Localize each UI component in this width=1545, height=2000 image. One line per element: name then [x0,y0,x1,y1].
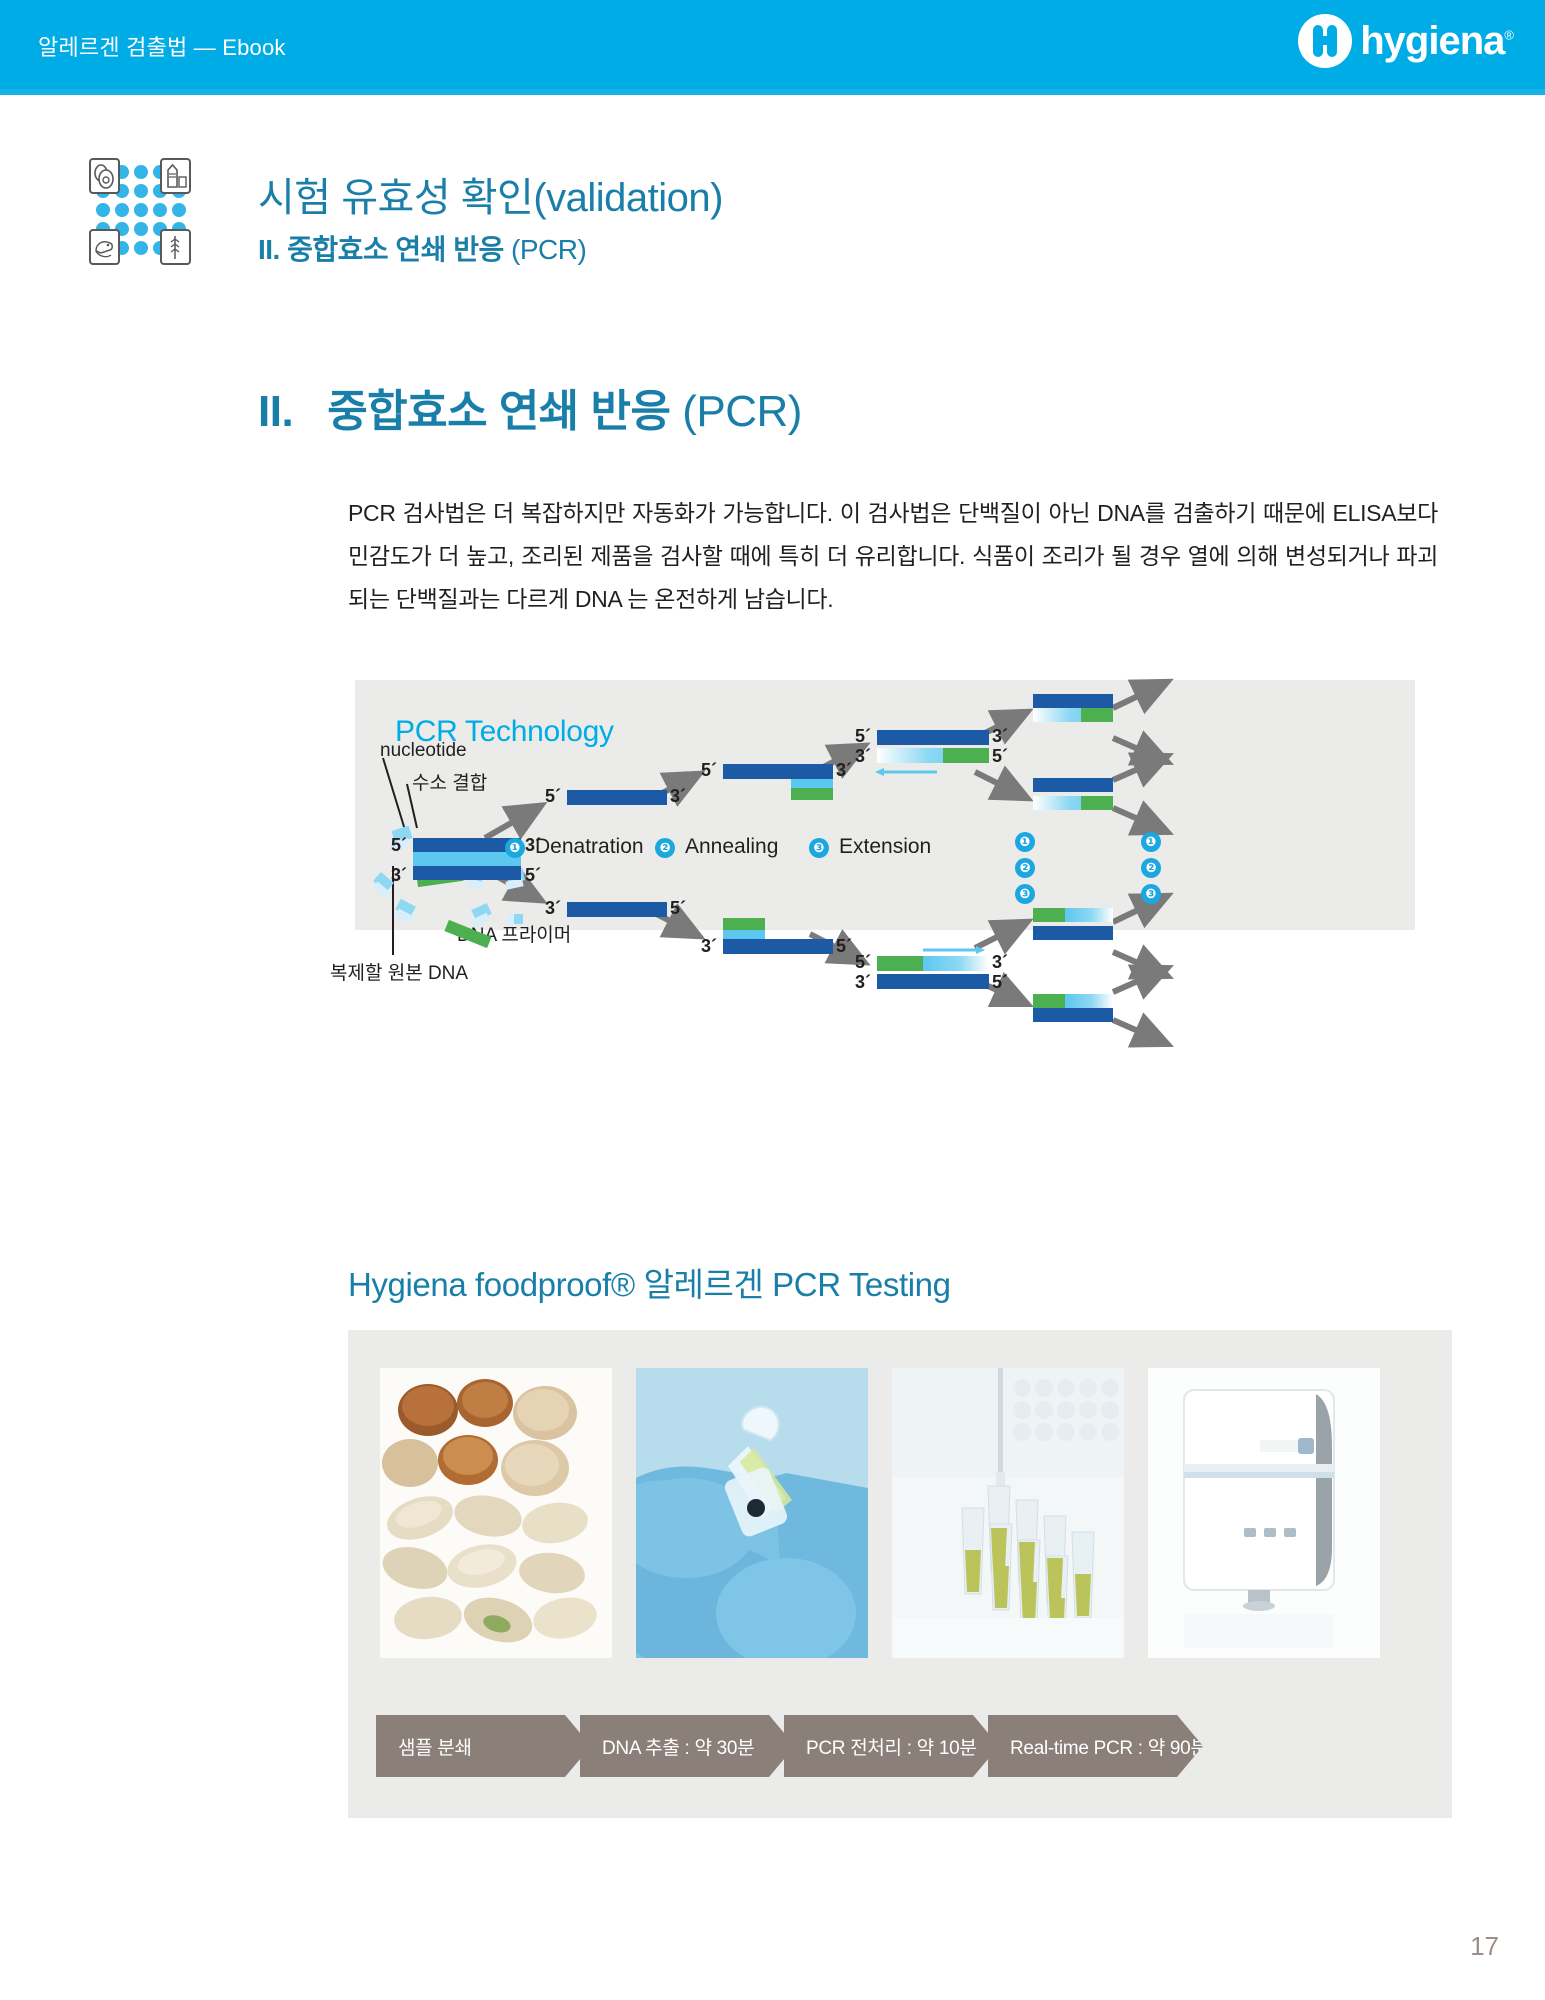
logo-bridge [1313,36,1337,45]
step-1-label: Denatration [535,835,644,859]
extension-strand-bottom [877,974,989,989]
cycle-marker-1: ❶ [1015,832,1035,852]
end-label-5prime: 5´ [855,952,871,973]
nuts-photo [380,1368,612,1658]
extension-primer-bottom [877,956,923,971]
foodproof-workflow-panel: 샘플 분쇄 DNA 추출 : 약 30분 PCR 전처리 : 약 10분 Rea… [348,1330,1452,1818]
pipette-tubes-photo [892,1368,1124,1658]
pcr-technology-diagram: PCR Technology nucleotide 수소 결합 DNA 프라이머… [355,680,1415,930]
cycle-marker-2: ❷ [1141,858,1161,878]
hygiena-logo: hygiena® [1298,14,1513,68]
heading-light-part: (PCR) [682,387,802,436]
product-primer [1033,994,1065,1008]
section-subtitle-bold: II. 중합효소 연쇄 반응 [258,234,504,265]
wheat-icon [160,229,191,265]
step-1-badge: ❶ [505,838,525,858]
grid-dot [134,203,148,217]
cycle-marker-2: ❷ [1015,858,1035,878]
extension-primer-top [943,748,989,763]
end-label-5prime: 5´ [992,972,1008,993]
product-strand [1033,926,1113,940]
annealing-primer-bottom [723,918,765,930]
denatured-strand-top [567,790,667,805]
product-strand [1033,1008,1113,1022]
nucleotide-fragment [507,914,514,924]
annealing-bond-bottom [723,930,765,939]
end-label-3prime: 3´ [855,746,871,767]
registered-mark: ® [1504,27,1513,42]
grid-dot [115,203,129,217]
end-label-3prime: 3´ [836,760,852,781]
product-primer [1081,796,1113,810]
template-strand-middle [413,852,521,866]
grid-dot [96,203,110,217]
end-label-5prime: 5´ [701,760,717,781]
end-label-5prime: 5´ [525,865,541,886]
end-label-5prime: 5´ [545,786,561,807]
end-label-5prime: 5´ [855,726,871,747]
section-subtitle-light: (PCR) [504,234,587,265]
process-step-3-label: PCR 전처리 : 약 10분 [806,1733,977,1760]
process-step-3: PCR 전처리 : 약 10분 [784,1715,999,1777]
page-header: 알레르겐 검출법 — Ebook hygiena® [0,0,1545,95]
annealing-primer-top [791,788,833,800]
page: 알레르겐 검출법 — Ebook hygiena® [0,0,1545,2000]
grid-dot [172,203,186,217]
grid-dot [134,184,148,198]
end-label-3prime: 3´ [545,898,561,919]
product-primer [1033,908,1065,922]
process-step-4: Real-time PCR : 약 90분 [988,1715,1203,1777]
end-label-3prime: 3´ [391,865,407,886]
section-title: 시험 유효성 확인(validation) [258,165,723,223]
step-2-badge: ❷ [655,838,675,858]
step-2-label: Annealing [685,835,778,859]
end-label-3prime: 3´ [855,972,871,993]
gloved-hand-tube-photo [636,1368,868,1658]
heading-numeral: II. [258,387,293,436]
foodproof-heading: Hygiena foodproof® 알레르겐 PCR Testing [348,1258,951,1306]
step-3-badge: ❸ [809,838,829,858]
step-3-label: Extension [839,835,931,859]
cycle-marker-3: ❸ [1141,884,1161,904]
grid-dot [134,165,148,179]
process-step-1-label: 샘플 분쇄 [398,1733,472,1760]
annealing-strand-top [723,764,833,779]
end-label-3prime: 3´ [992,726,1008,747]
eggs-icon [89,158,120,194]
header-underline [0,89,1545,95]
process-step-1: 샘플 분쇄 [376,1715,591,1777]
hygiena-logo-mark [1298,14,1352,68]
cycle-marker-3: ❸ [1015,884,1035,904]
annealing-strand-bottom [723,939,833,954]
section-subtitle: II. 중합효소 연쇄 반응 (PCR) [258,228,586,268]
header-title: 알레르겐 검출법 — Ebook [38,30,286,62]
page-title: II.중합효소 연쇄 반응 (PCR) [258,375,802,439]
cycle-marker-1: ❶ [1141,832,1161,852]
page-number: 17 [1470,1931,1499,1962]
heading-bold-part: 중합효소 연쇄 반응 [327,387,670,436]
end-label-5prime: 5´ [992,746,1008,767]
synthesis-direction-arrow-top [875,766,945,780]
template-strand-bottom [413,866,521,880]
extension-strand-top [877,730,989,745]
body-paragraph: PCR 검사법은 더 복잡하지만 자동화가 가능합니다. 이 검사법은 단백질이… [348,492,1438,621]
process-step-2-label: DNA 추출 : 약 30분 [602,1733,754,1760]
process-step-4-label: Real-time PCR : 약 90분 [1010,1733,1208,1760]
product-strand [1065,994,1113,1008]
process-step-2: DNA 추출 : 약 30분 [580,1715,795,1777]
logo-wordmark: hygiena® [1360,19,1513,64]
annealing-bond-top [791,779,833,788]
denatured-strand-bottom [567,902,667,917]
end-label-3prime: 3´ [701,936,717,957]
allergen-icon-grid [96,165,184,255]
end-label-5prime: 5´ [670,898,686,919]
end-label-5prime: 5´ [391,835,407,856]
end-label-3prime: 3´ [992,952,1008,973]
product-strand [1065,908,1113,922]
extension-new-strand-bottom [923,956,989,971]
milk-carton-icon [160,158,191,194]
product-strand [1033,694,1113,708]
end-label-5prime: 5´ [836,936,852,957]
product-primer [1081,708,1113,722]
synthesis-direction-arrow-bottom [915,944,985,958]
grid-dot [134,222,148,236]
end-label-3prime: 3´ [670,786,686,807]
logo-wordmark-text: hygiena [1360,19,1504,63]
pcr-instrument-photo [1148,1368,1380,1658]
product-strand [1033,778,1113,792]
grid-dot [153,203,167,217]
shrimp-icon [89,229,120,265]
grid-dot [134,241,148,255]
